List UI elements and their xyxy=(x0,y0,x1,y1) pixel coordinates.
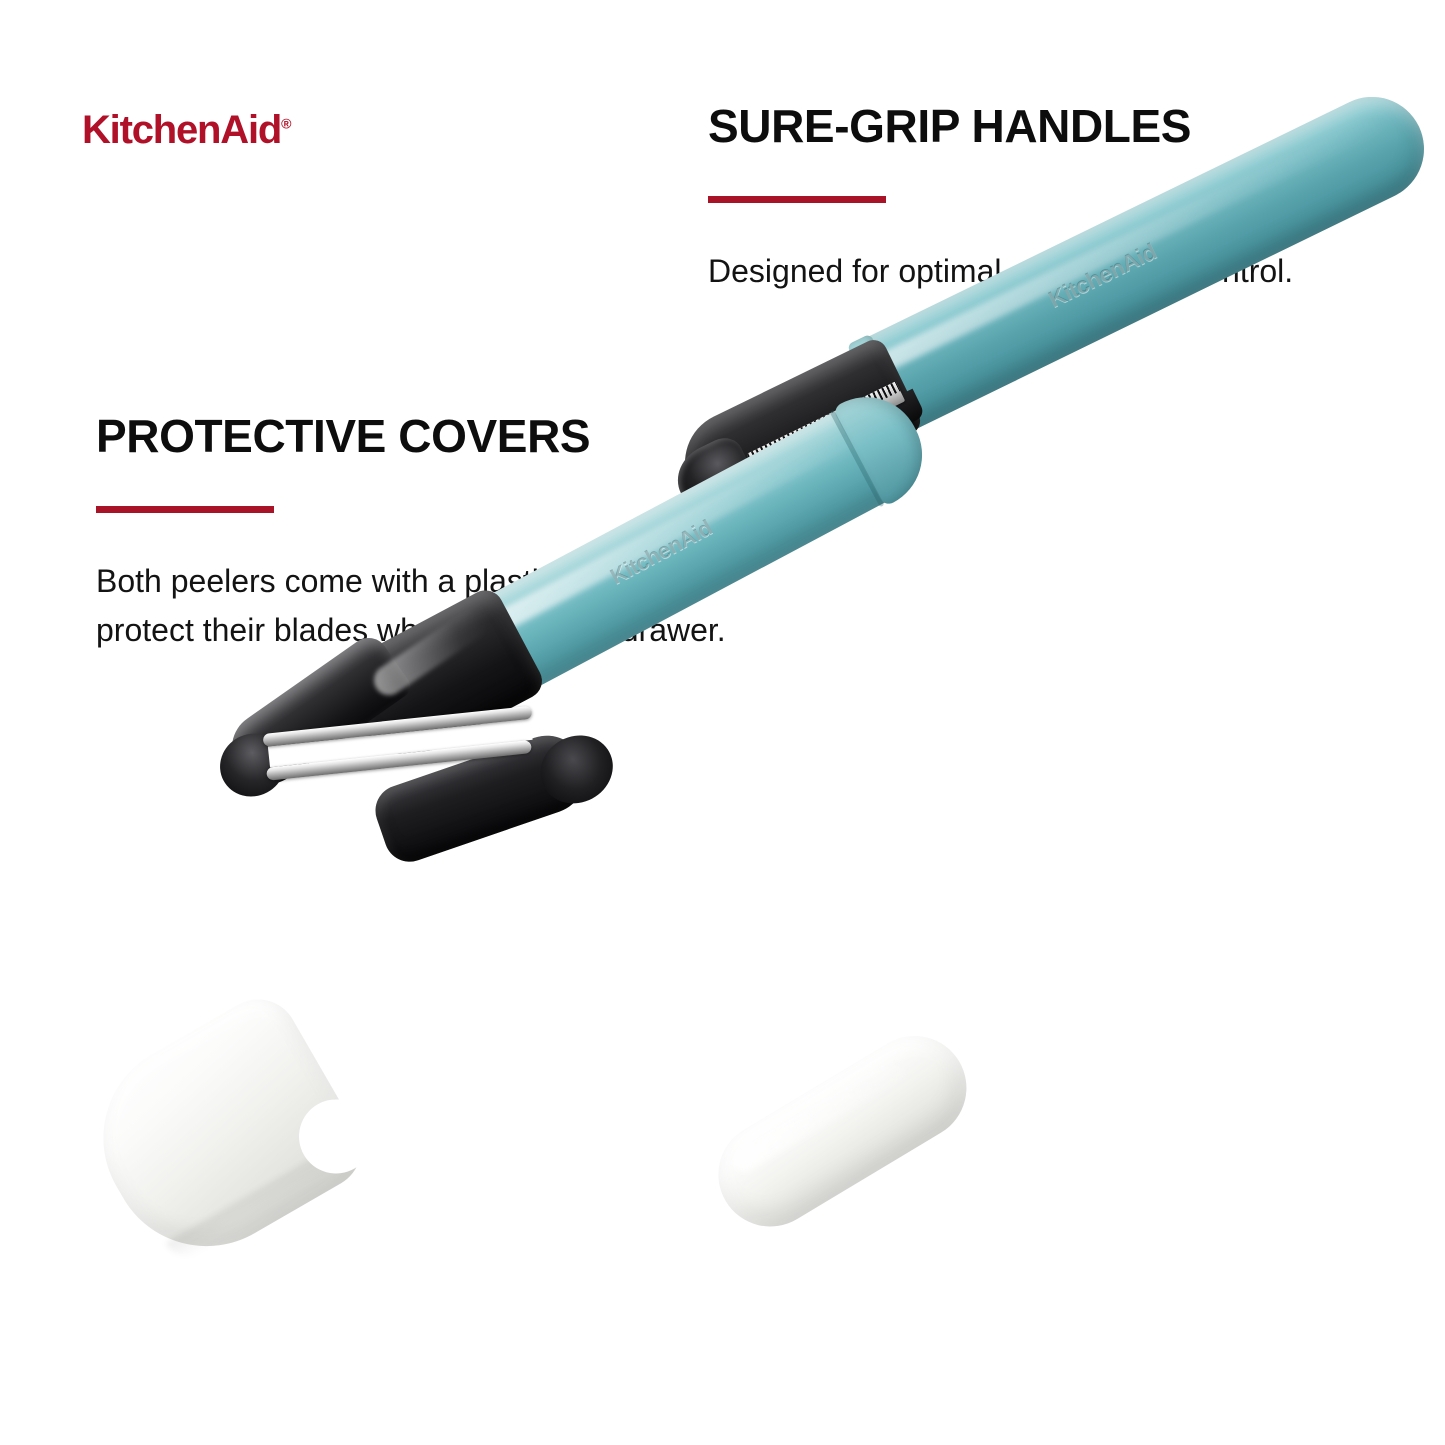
straight-peeler-protective-cover xyxy=(634,929,1046,1341)
brand-name: KitchenAid xyxy=(82,108,281,152)
feature-heading: SURE-GRIP HANDLES xyxy=(708,102,1308,150)
accent-rule xyxy=(708,196,886,203)
y-peeler-lower-arm xyxy=(369,725,597,868)
blade-rail-top xyxy=(263,706,533,747)
y-peeler-end-cap xyxy=(832,378,941,507)
cover-body xyxy=(68,985,375,1281)
registered-trademark-icon: ® xyxy=(281,116,291,132)
straight-peeler-blade-housing xyxy=(745,389,925,498)
cover-notch xyxy=(285,1086,386,1187)
feature-block-sure-grip: SURE-GRIP HANDLES Designed for optimal c… xyxy=(708,102,1308,296)
straight-peeler-collar xyxy=(847,334,918,442)
y-peeler-cap-seam xyxy=(829,410,884,508)
y-peeler-bottom-tip xyxy=(528,723,624,816)
y-peeler-upper-arm xyxy=(218,630,415,798)
feature-body-text: Both peelers come with a plastic cover t… xyxy=(96,557,746,654)
feature-heading: PROTECTIVE COVERS xyxy=(96,412,756,460)
infographic-canvas: KitchenAid® SURE-GRIP HANDLES Designed f… xyxy=(0,0,1445,1445)
y-peeler-left-tip xyxy=(209,722,296,808)
blade-gap xyxy=(268,719,533,767)
blade-rail-bottom xyxy=(266,740,532,781)
kitchenaid-logo: KitchenAid® xyxy=(82,108,291,153)
feature-block-protective-covers: PROTECTIVE COVERS Both peelers come with… xyxy=(96,412,756,655)
straight-peeler-blade xyxy=(746,381,905,474)
y-peeler-swivel-blade xyxy=(263,705,549,841)
cover-edge-shadow xyxy=(165,1150,339,1266)
cover-body xyxy=(699,1017,986,1246)
accent-rule xyxy=(96,506,274,513)
y-peeler-protective-cover xyxy=(68,985,375,1281)
feature-body-text: Designed for optimal comfort and control… xyxy=(708,247,1308,296)
cover-highlight xyxy=(730,1049,921,1176)
serrated-teeth xyxy=(746,381,900,464)
